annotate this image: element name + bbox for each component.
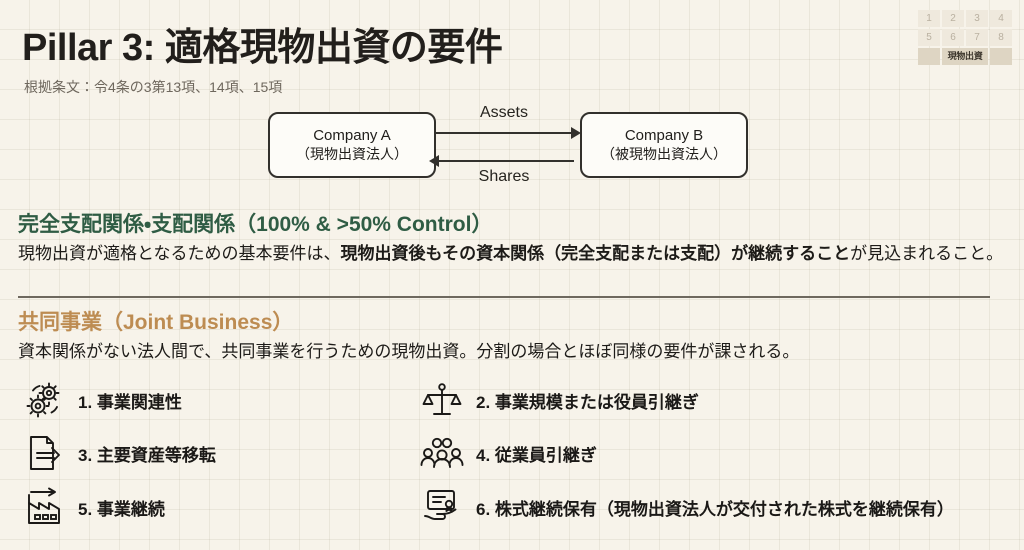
requirement-label-6: 6. 株式継続保有（現物出資法人が交付された株式を継続保有） bbox=[476, 495, 954, 520]
pillar-cell-7[interactable]: 7 bbox=[966, 29, 988, 46]
page-title: Pillar 3: 適格現物出資の要件 bbox=[22, 16, 502, 71]
requirement-item-4: 4. 従業員引継ぎ bbox=[420, 431, 597, 475]
diagram-node-company-a: Company A （現物出資法人） bbox=[268, 112, 436, 178]
requirement-label-4: 4. 従業員引継ぎ bbox=[476, 441, 597, 466]
company-b-name: Company B bbox=[625, 127, 703, 146]
pillar-label-pad-left bbox=[918, 48, 940, 65]
pillar-cell-8[interactable]: 8 bbox=[990, 29, 1012, 46]
arrow-assets-right bbox=[436, 132, 572, 134]
pillar-cell-3[interactable]: 3 bbox=[966, 10, 988, 27]
requirement-item-1: 1. 事業関連性 bbox=[22, 378, 182, 422]
requirement-item-3: 3. 主要資産等移転 bbox=[22, 431, 216, 475]
requirement-label-2: 2. 事業規模または役員引継ぎ bbox=[476, 388, 699, 413]
requirement-item-5: 5. 事業継続 bbox=[22, 485, 165, 529]
control-body-tail: が見込まれること。 bbox=[850, 244, 1003, 263]
arrow-shares-left bbox=[438, 160, 574, 162]
requirement-label-3: 3. 主要資産等移転 bbox=[78, 441, 216, 466]
certificate-hand-icon bbox=[420, 485, 464, 529]
document-transfer-icon bbox=[22, 431, 66, 475]
section-heading-control: 完全支配関係・支配関係（100% & >50% Control） bbox=[18, 208, 492, 238]
requirement-label-1: 1. 事業関連性 bbox=[78, 388, 182, 413]
control-body-emphasis: 現物出資後もその資本関係（完全支配または支配）が継続すること bbox=[341, 244, 851, 263]
pillar-active-row: 現物出資 bbox=[918, 48, 1012, 65]
company-a-role: （現物出資法人） bbox=[296, 146, 408, 164]
company-a-name: Company A bbox=[313, 127, 391, 146]
requirement-item-2: 2. 事業規模または役員引継ぎ bbox=[420, 378, 699, 422]
requirement-item-6: 6. 株式継続保有（現物出資法人が交付された株式を継続保有） bbox=[420, 485, 954, 529]
pillar-label-pad-right bbox=[990, 48, 1012, 65]
company-b-role: （被現物出資法人） bbox=[601, 146, 727, 164]
people-group-icon bbox=[420, 431, 464, 475]
scales-icon bbox=[420, 378, 464, 422]
arrow-label-shares: Shares bbox=[436, 168, 572, 186]
pillar-active-label: 現物出資 bbox=[942, 48, 988, 65]
pillar-grid-row-2: 5 6 7 8 bbox=[918, 29, 1012, 46]
control-body-lead: 現物出資が適格となるための基本要件は、 bbox=[18, 244, 341, 263]
gears-icon bbox=[22, 378, 66, 422]
section-body-control: 現物出資が適格となるための基本要件は、現物出資後もその資本関係（完全支配または支… bbox=[18, 241, 1004, 267]
pillar-progress-grid: 1 2 3 4 5 6 7 8 現物出資 bbox=[918, 10, 1012, 65]
pillar-cell-2[interactable]: 2 bbox=[942, 10, 964, 27]
slide-root: Pillar 3: 適格現物出資の要件 根拠条文：令4条の3第13項、14項、1… bbox=[0, 0, 1024, 550]
pillar-cell-6[interactable]: 6 bbox=[942, 29, 964, 46]
diagram-node-company-b: Company B （被現物出資法人） bbox=[580, 112, 748, 178]
factory-icon bbox=[22, 485, 66, 529]
contribution-flow-diagram: Company A （現物出資法人） Company B （被現物出資法人） A… bbox=[268, 112, 758, 194]
pillar-cell-4[interactable]: 4 bbox=[990, 10, 1012, 27]
page-subtitle: 根拠条文：令4条の3第13項、14項、15項 bbox=[24, 77, 282, 97]
pillar-cell-5[interactable]: 5 bbox=[918, 29, 940, 46]
section-body-joint: 資本関係がない法人間で、共同事業を行うための現物出資。分割の場合とほぼ同様の要件… bbox=[18, 339, 978, 365]
pillar-cell-1[interactable]: 1 bbox=[918, 10, 940, 27]
pillar-grid-row-1: 1 2 3 4 bbox=[918, 10, 1012, 27]
requirement-label-5: 5. 事業継続 bbox=[78, 495, 165, 520]
section-heading-joint: 共同事業（Joint Business） bbox=[18, 306, 293, 336]
arrow-label-assets: Assets bbox=[436, 104, 572, 122]
section-divider bbox=[18, 296, 990, 298]
